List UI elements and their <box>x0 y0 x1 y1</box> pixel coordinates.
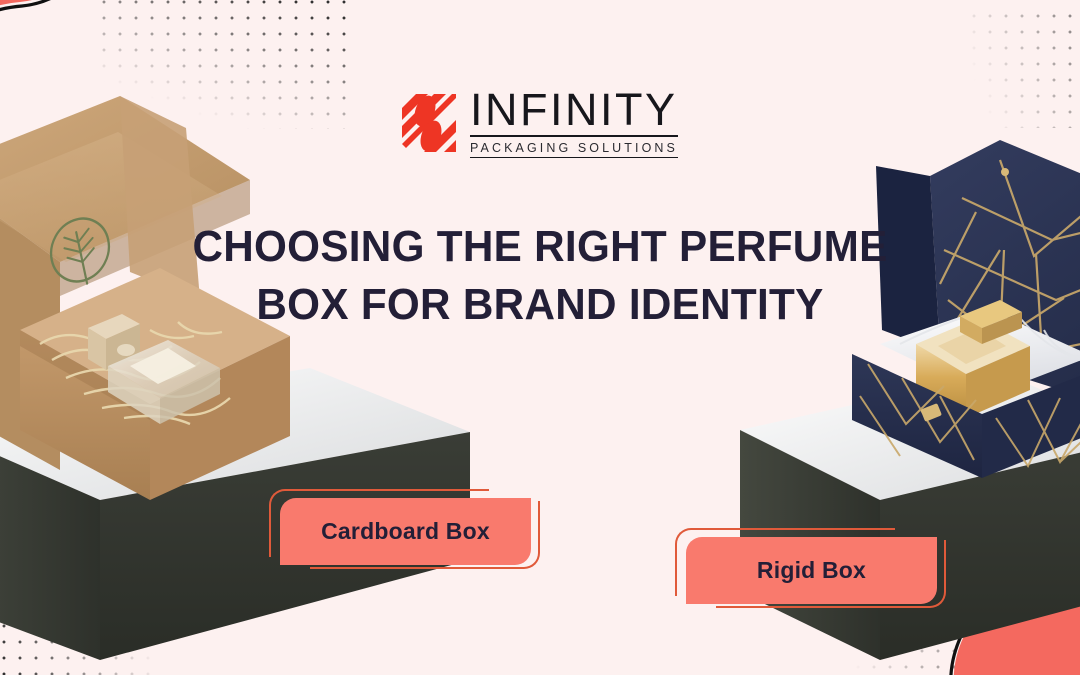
page-title-line-2: BOX FOR BRAND IDENTITY <box>175 276 905 334</box>
label-badge-cardboard-box: Cardboard Box <box>266 489 531 565</box>
brand-logo: INFINITY PACKAGING SOLUTIONS <box>402 88 678 158</box>
logo-tagline: PACKAGING SOLUTIONS <box>470 141 678 158</box>
label-badge-rigid-box: Rigid Box <box>672 528 937 604</box>
badge-label-text: Rigid Box <box>686 537 937 604</box>
banner-root: INFINITY PACKAGING SOLUTIONS CHOOSING TH… <box>0 0 1080 675</box>
logo-wordmark-group: INFINITY PACKAGING SOLUTIONS <box>470 88 678 158</box>
page-title-line-1: CHOOSING THE RIGHT PERFUME <box>175 218 905 276</box>
infinity-logo-mark-icon <box>402 94 456 152</box>
page-title: CHOOSING THE RIGHT PERFUME BOX FOR BRAND… <box>160 218 920 334</box>
badge-label-text: Cardboard Box <box>280 498 531 565</box>
logo-wordmark: INFINITY <box>470 88 678 137</box>
